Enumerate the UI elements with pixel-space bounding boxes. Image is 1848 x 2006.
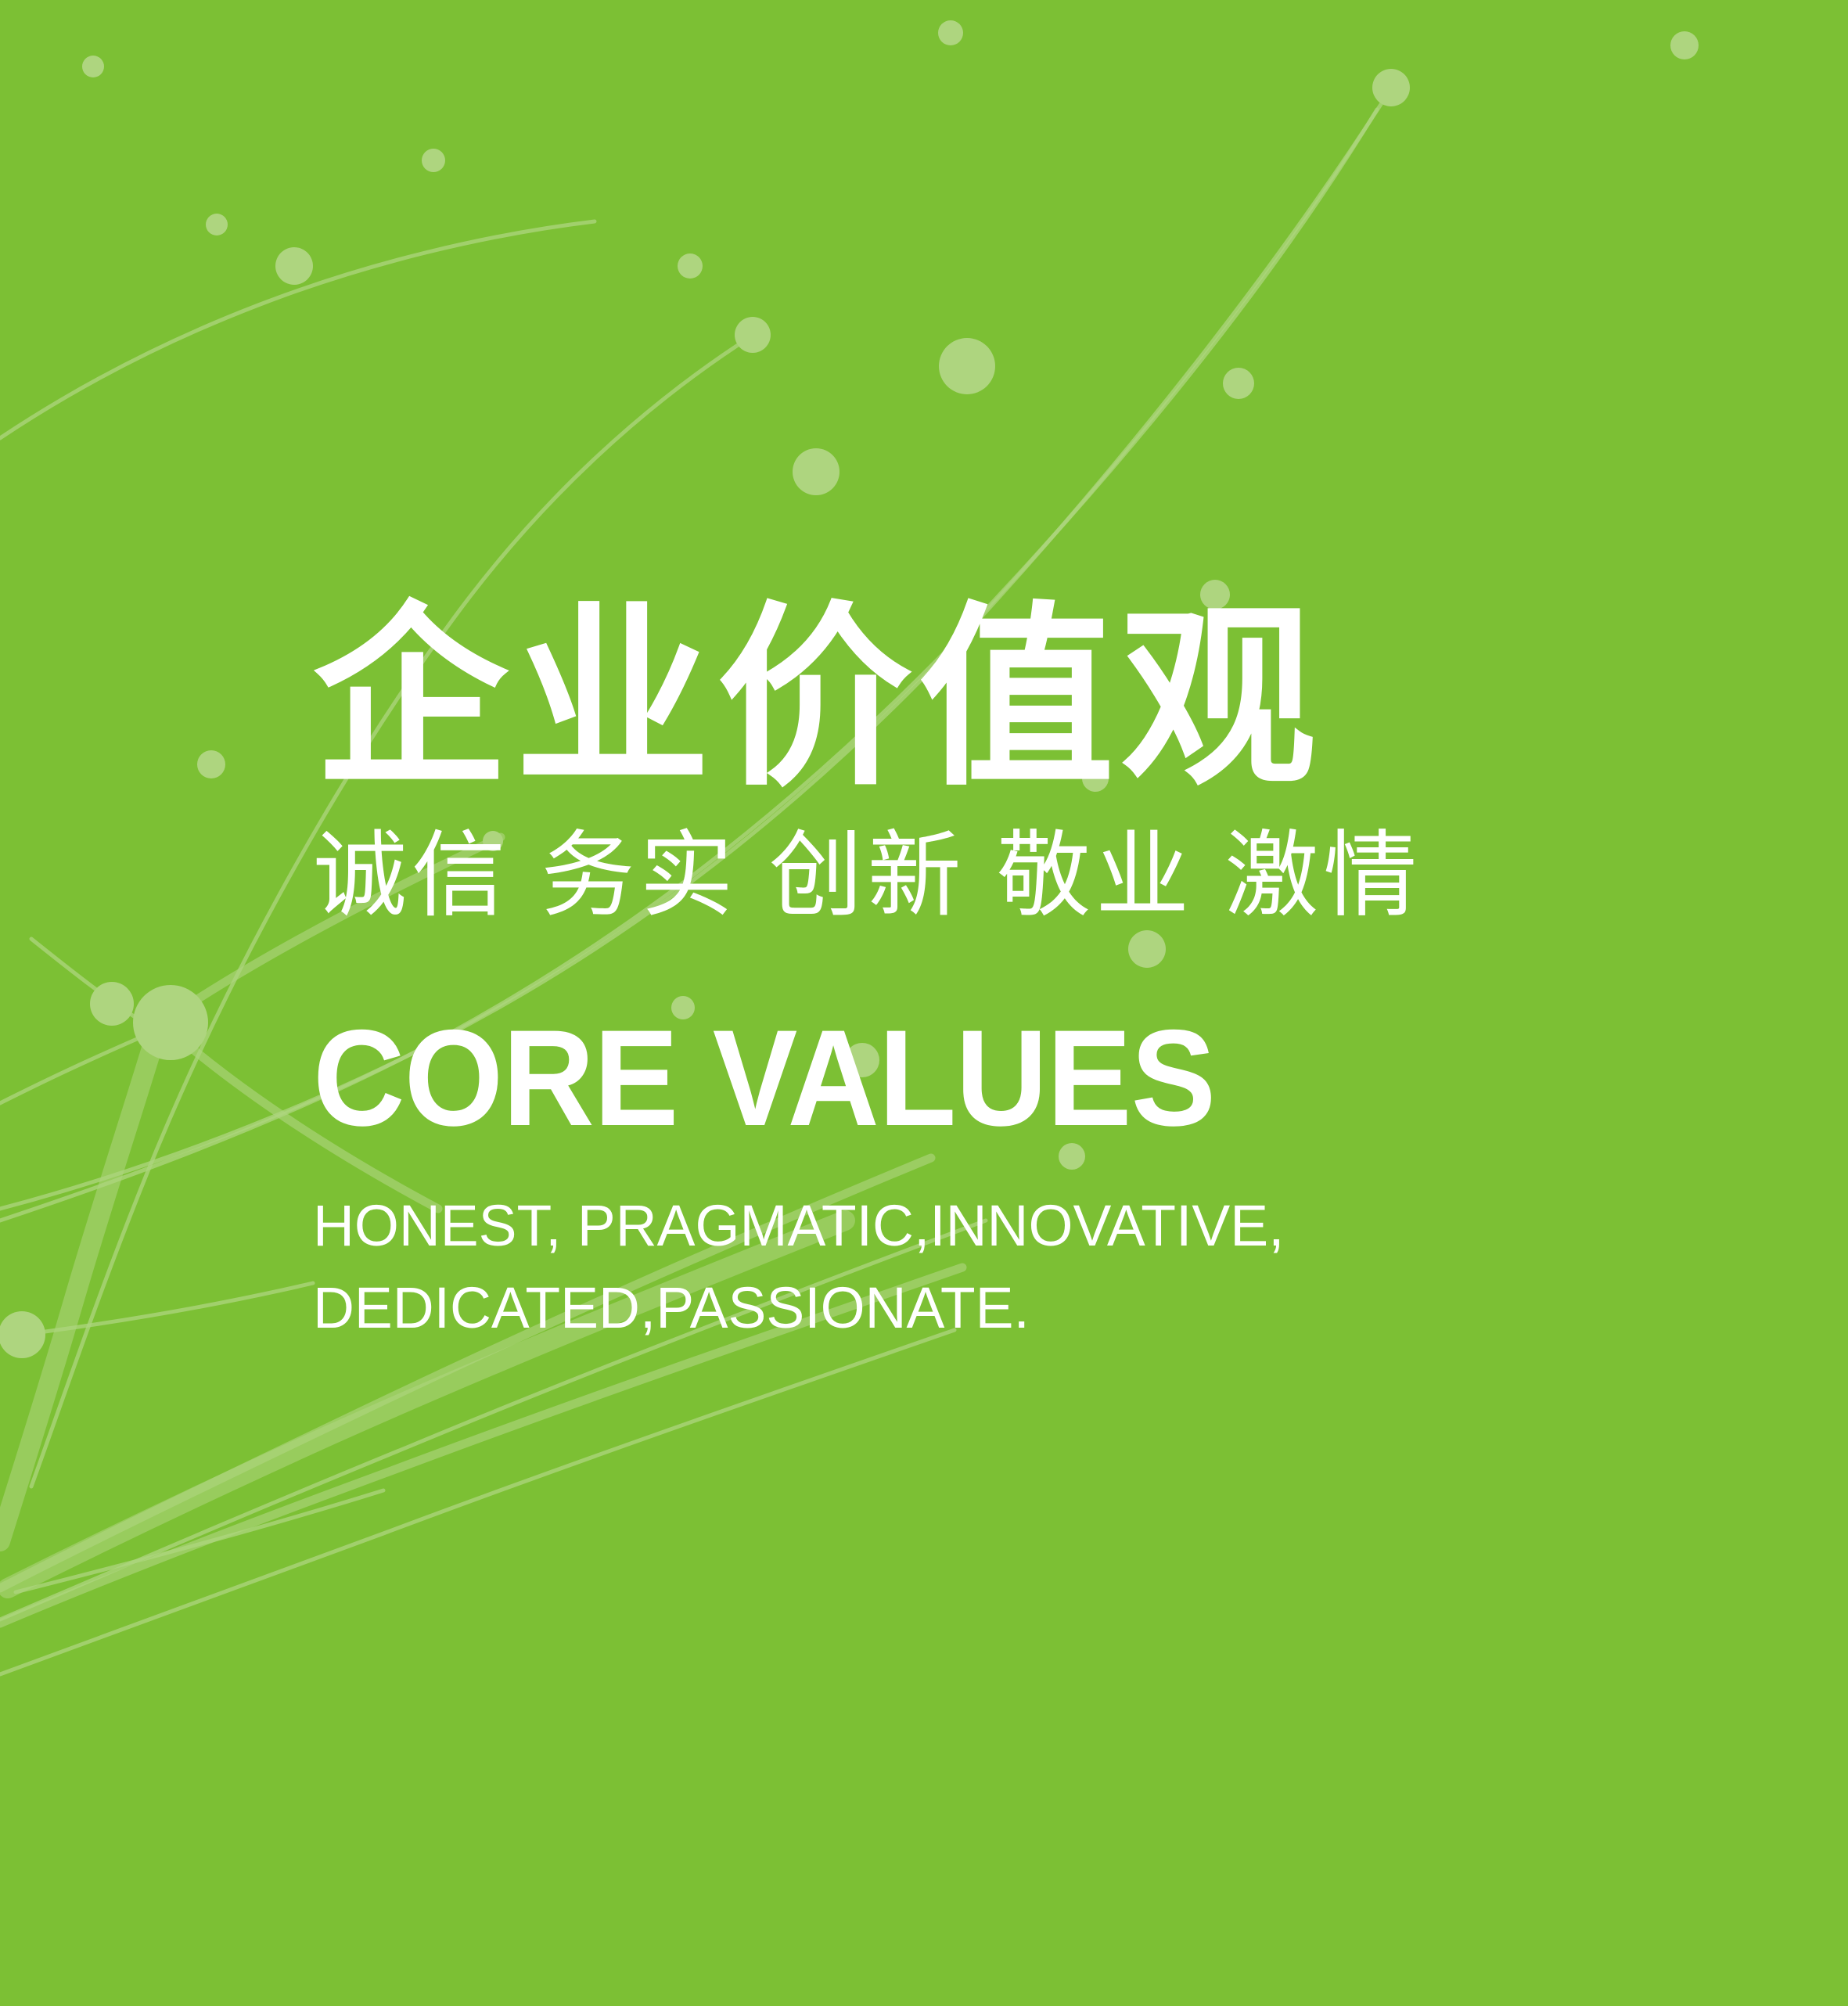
decor-node-dot bbox=[90, 982, 134, 1026]
decor-node-dot bbox=[197, 750, 225, 778]
english-description-line-2: DEDICATED,PASSIONATE. bbox=[313, 1267, 1669, 1349]
decor-node-dot bbox=[422, 149, 445, 172]
core-values-poster: .ln { fill:none; stroke:#aed57f; stroke-… bbox=[0, 0, 1848, 2006]
decor-node-dot bbox=[678, 253, 703, 279]
decor-node-dot bbox=[1223, 368, 1254, 399]
english-title: CORE VALUES bbox=[313, 1010, 1587, 1147]
english-description-line-1: HONEST, PRAGMATIC,INNOVATIVE, bbox=[313, 1185, 1669, 1267]
decor-connector-bottom-left-2 bbox=[16, 1490, 383, 1592]
chinese-subtitle: 诚信 务实 创新 敬业 激情 bbox=[313, 821, 1682, 932]
decor-node-dot bbox=[939, 338, 995, 394]
decor-node-dot bbox=[0, 1311, 45, 1358]
decor-sweep-thin-2 bbox=[0, 1330, 955, 1674]
decor-connector-bottom-left bbox=[27, 1283, 313, 1334]
decor-node-dot bbox=[206, 214, 228, 235]
decor-node-ray-3 bbox=[0, 1029, 160, 1103]
page-title: 企业价值观 bbox=[313, 595, 1682, 802]
decor-node-dot bbox=[735, 317, 771, 353]
decor-node-dot bbox=[82, 56, 104, 77]
decor-node-dot bbox=[1670, 31, 1699, 59]
decor-node-dot bbox=[793, 448, 840, 495]
poster-text-block: 企业价值观 诚信 务实 创新 敬业 激情 CORE VALUES HONEST,… bbox=[313, 595, 1682, 1349]
decor-node-dot bbox=[1372, 69, 1410, 106]
decor-node-ray-4 bbox=[31, 939, 156, 1031]
decor-node-dot bbox=[275, 247, 313, 285]
decor-node-dot bbox=[938, 20, 963, 45]
decor-node-ray-1 bbox=[0, 1033, 156, 1541]
decor-curve-top-left-edge bbox=[0, 221, 595, 438]
decor-node-dot bbox=[133, 985, 208, 1060]
english-description: HONEST, PRAGMATIC,INNOVATIVE, DEDICATED,… bbox=[313, 1185, 1669, 1349]
